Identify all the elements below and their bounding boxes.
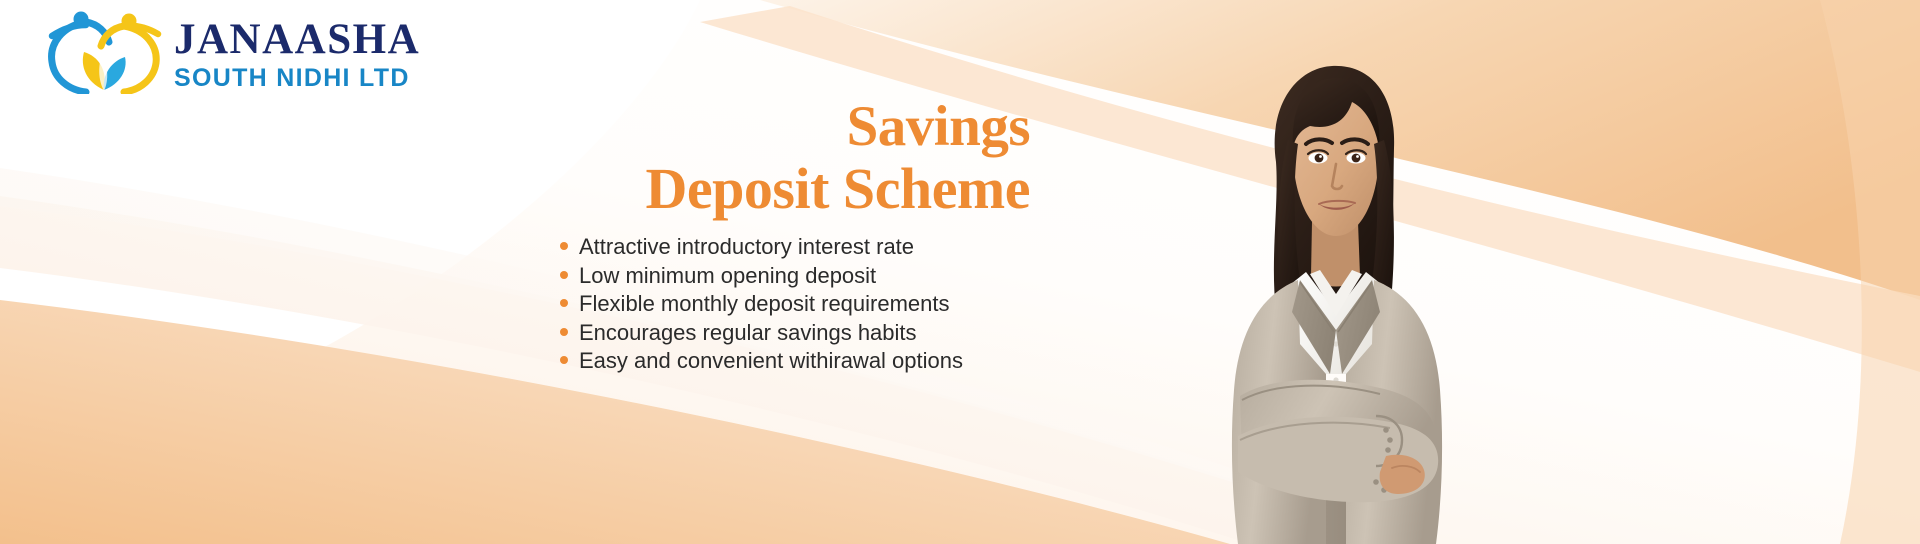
brand-subtitle: SOUTH NIDHI LTD bbox=[174, 66, 420, 91]
brand-wordmark: JANAASHA SOUTH NIDHI LTD bbox=[174, 12, 420, 91]
brand-name: JANAASHA bbox=[174, 18, 420, 61]
promotional-banner: JANAASHA SOUTH NIDHI LTD Savings Deposit… bbox=[0, 0, 1920, 544]
bullet-dot-icon bbox=[560, 299, 568, 307]
headline-line-2: Deposit Scheme bbox=[300, 160, 1030, 218]
list-item: Encourages regular savings habits bbox=[560, 320, 963, 349]
businesswoman-portrait bbox=[1180, 44, 1480, 544]
bullet-dot-icon bbox=[560, 271, 568, 279]
list-item: Low minimum opening deposit bbox=[560, 263, 963, 292]
bullet-dot-icon bbox=[560, 356, 568, 364]
feature-label: Encourages regular savings habits bbox=[579, 320, 917, 346]
feature-label: Low minimum opening deposit bbox=[579, 263, 876, 289]
list-item: Easy and convenient withirawal options bbox=[560, 348, 963, 377]
people-leaf-logo-icon bbox=[46, 8, 164, 94]
feature-label: Attractive introductory interest rate bbox=[579, 234, 914, 260]
feature-label: Easy and convenient withirawal options bbox=[579, 348, 963, 374]
page-title: Savings Deposit Scheme bbox=[300, 98, 1030, 218]
list-item: Flexible monthly deposit requirements bbox=[560, 291, 963, 320]
bullet-dot-icon bbox=[560, 242, 568, 250]
headline-line-1: Savings bbox=[300, 98, 1030, 156]
bullet-dot-icon bbox=[560, 328, 568, 336]
feature-list: Attractive introductory interest rate Lo… bbox=[560, 234, 963, 377]
brand-logo[interactable]: JANAASHA SOUTH NIDHI LTD bbox=[46, 8, 420, 94]
feature-label: Flexible monthly deposit requirements bbox=[579, 291, 950, 317]
list-item: Attractive introductory interest rate bbox=[560, 234, 963, 263]
